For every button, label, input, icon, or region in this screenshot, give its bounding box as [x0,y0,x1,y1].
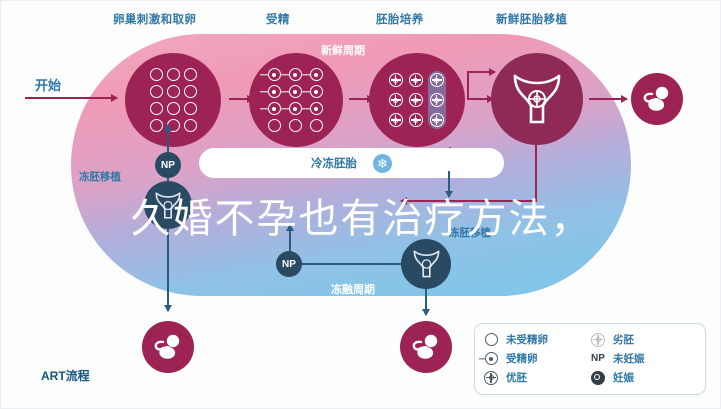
legend-label: 优胚 [506,370,527,385]
arrow-bottom-transfer-to-birth [425,289,427,315]
start-arrow [25,97,117,99]
uterus-icon [410,247,443,281]
fertilized-egg-icon [310,102,323,115]
unfertilized-egg-icon [167,68,180,81]
stage-label-fresh-transfer: 新鲜胚胎移植 [496,11,567,27]
start-label: 开始 [35,75,61,94]
fet-label-left: 冻胚移植 [79,169,121,184]
arrow-fresh-transfer-to-birth [589,98,627,100]
uterus-icon [507,68,567,130]
node-embryo-culture [369,53,465,147]
unfertilized-egg-icon [167,102,180,115]
good-embryo-icon [483,371,499,385]
pregnancy-outcome-left [142,321,194,373]
fertilized-egg-icon [268,68,281,81]
frozen-embryo-bar: 冷冻胚胎 ❄ [199,148,504,178]
snowflake-icon: ❄ [373,154,392,173]
frozen-embryo-column [428,71,446,129]
unfertilized-egg-icon [150,102,163,115]
unfertilized-egg-icon [167,85,180,98]
good-embryo-icon [430,73,444,87]
good-embryo-icon [409,73,423,87]
np-chip-bottom: NP [276,251,302,277]
arrow-culture-elbow-top [467,71,495,73]
legend-label: 未受精卵 [506,332,548,347]
fertilized-egg-icon [268,102,281,115]
unfertilized-egg-icon [268,119,281,132]
good-embryo-icon [430,113,444,127]
good-embryo-icon [389,113,403,127]
legend-label: 受精卵 [506,351,538,366]
unfertilized-egg-icon [184,119,197,132]
unfertilized-egg-icon [289,119,302,132]
fresh-cycle-caption: 新鲜周期 [321,42,365,58]
stage-label-embryo-culture: 胚胎培养 [376,11,424,27]
legend-item-poor-embryo: 劣胚 [590,332,697,347]
unfertilized-egg-icon [184,68,197,81]
node-fresh-embryo-transfer [491,53,583,145]
node-fertilization [249,53,343,147]
art-process-diagram: 卵巢刺激和取卵 受精 胚胎培养 新鲜胚胎移植 新鲜周期 开始 [0,0,721,409]
fetus-icon [640,82,674,116]
legend-box: 未受精卵 劣胚 受精卵 NP 未妊娠 优胚 妊娠 [474,323,706,395]
good-embryo-icon [389,93,403,107]
frozen-embryo-label: 冷冻胚胎 [311,155,357,171]
legend-item-not-pregnant: NP 未妊娠 [590,351,697,366]
unfertilized-egg-icon [150,119,163,132]
pregnancy-outcome-bottom [400,321,452,373]
node-frozen-transfer-bottom [401,239,451,289]
unfertilized-egg-icon [483,333,499,346]
legend-label: 妊娠 [613,370,634,385]
unfertilized-egg-icon [150,68,163,81]
good-embryo-icon [430,93,444,107]
fertilized-egg-icon [483,352,499,365]
unfertilized-egg-icon [184,85,197,98]
legend-item-fertilized-egg: 受精卵 [483,351,590,366]
fertilized-egg-icon [310,85,323,98]
legend-item-pregnancy: 妊娠 [590,370,697,385]
fetus-icon [409,330,443,364]
np-chip-left: NP [155,152,181,178]
good-embryo-icon [409,113,423,127]
fertilized-egg-icon [268,85,281,98]
arrow-culture-to-fresh-transfer [467,98,493,100]
fertilized-egg-icon [289,85,302,98]
pregnancy-outcome-top [631,73,683,125]
overlay-caption: 久婚不孕也有治疗方法， [1,186,721,244]
fertilized-egg-icon [289,68,302,81]
stage-label-fertilization: 受精 [266,11,290,27]
poor-embryo-icon [590,333,606,347]
thaw-cycle-caption: 冻融周期 [331,281,375,297]
pregnancy-icon [590,371,606,385]
line-np-bottom-to-uterus [302,263,401,265]
fertilized-egg-icon [289,102,302,115]
legend-label: 劣胚 [613,332,634,347]
np-icon: NP [590,353,606,364]
arrow-culture-elbow-vertical [467,71,469,99]
art-flow-title: ART流程 [41,367,90,384]
arrow-left-np-to-retrieval [167,125,169,153]
legend-label: 未妊娠 [613,351,645,366]
legend-item-unfertilized-egg: 未受精卵 [483,332,590,347]
fertilized-egg-icon [310,68,323,81]
node-oocyte-retrieval [125,53,221,147]
unfertilized-egg-icon [310,119,323,132]
legend-item-good-embryo: 优胚 [483,370,590,385]
good-embryo-icon [409,93,423,107]
fetus-icon [151,330,185,364]
unfertilized-egg-icon [184,102,197,115]
stage-label-ovarian-stimulation: 卵巢刺激和取卵 [113,11,196,27]
good-embryo-icon [389,73,403,87]
unfertilized-egg-icon [150,85,163,98]
